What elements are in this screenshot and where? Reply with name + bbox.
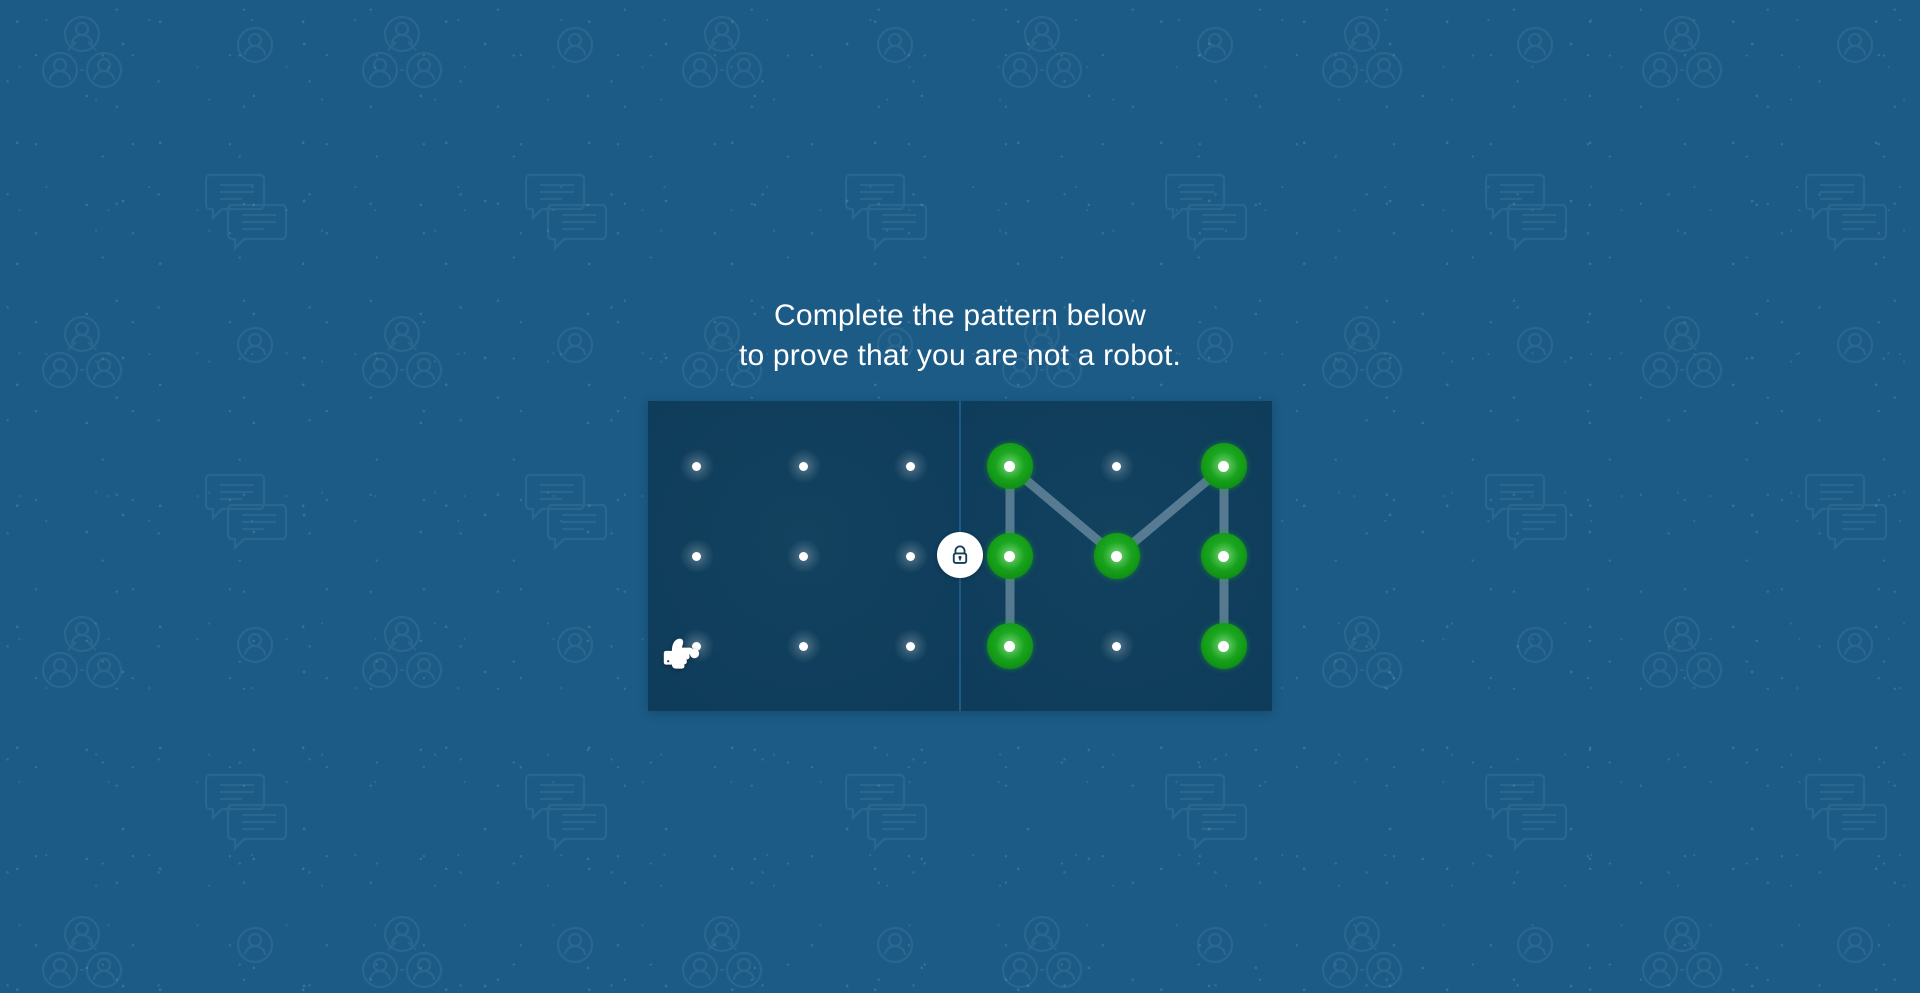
pattern-dot-core <box>1218 461 1229 472</box>
pattern-dot-core <box>692 462 701 471</box>
target-pattern-grid <box>961 401 1272 711</box>
lock-icon <box>949 544 971 566</box>
pattern-dot-core <box>1218 641 1229 652</box>
prompt-line-1: Complete the pattern below <box>0 296 1920 336</box>
pattern-dot-core <box>906 552 915 561</box>
lock-badge <box>937 532 983 578</box>
pattern-dot-core <box>1111 551 1122 562</box>
pattern-dot-core <box>1112 642 1121 651</box>
pattern-dot-core <box>799 462 808 471</box>
pattern-dot-core <box>1004 461 1015 472</box>
pattern-dot-core <box>906 642 915 651</box>
page-title: Complete the pattern below to prove that… <box>0 296 1920 376</box>
captcha-screen: Complete the pattern below to prove that… <box>0 0 1920 993</box>
pattern-dot-core <box>1004 551 1015 562</box>
pattern-dot-core <box>906 462 915 471</box>
pattern-dot-core <box>799 642 808 651</box>
target-grid-dots <box>1010 466 1224 646</box>
pointing-hand-icon <box>661 634 705 674</box>
pattern-dot-core <box>799 552 808 561</box>
input-grid-dots[interactable] <box>697 466 911 646</box>
pattern-dot-core <box>1218 551 1229 562</box>
pattern-dot-core <box>1112 462 1121 471</box>
prompt-line-2: to prove that you are not a robot. <box>0 336 1920 376</box>
pattern-dot-core <box>692 552 701 561</box>
pattern-dot-core <box>1004 641 1015 652</box>
